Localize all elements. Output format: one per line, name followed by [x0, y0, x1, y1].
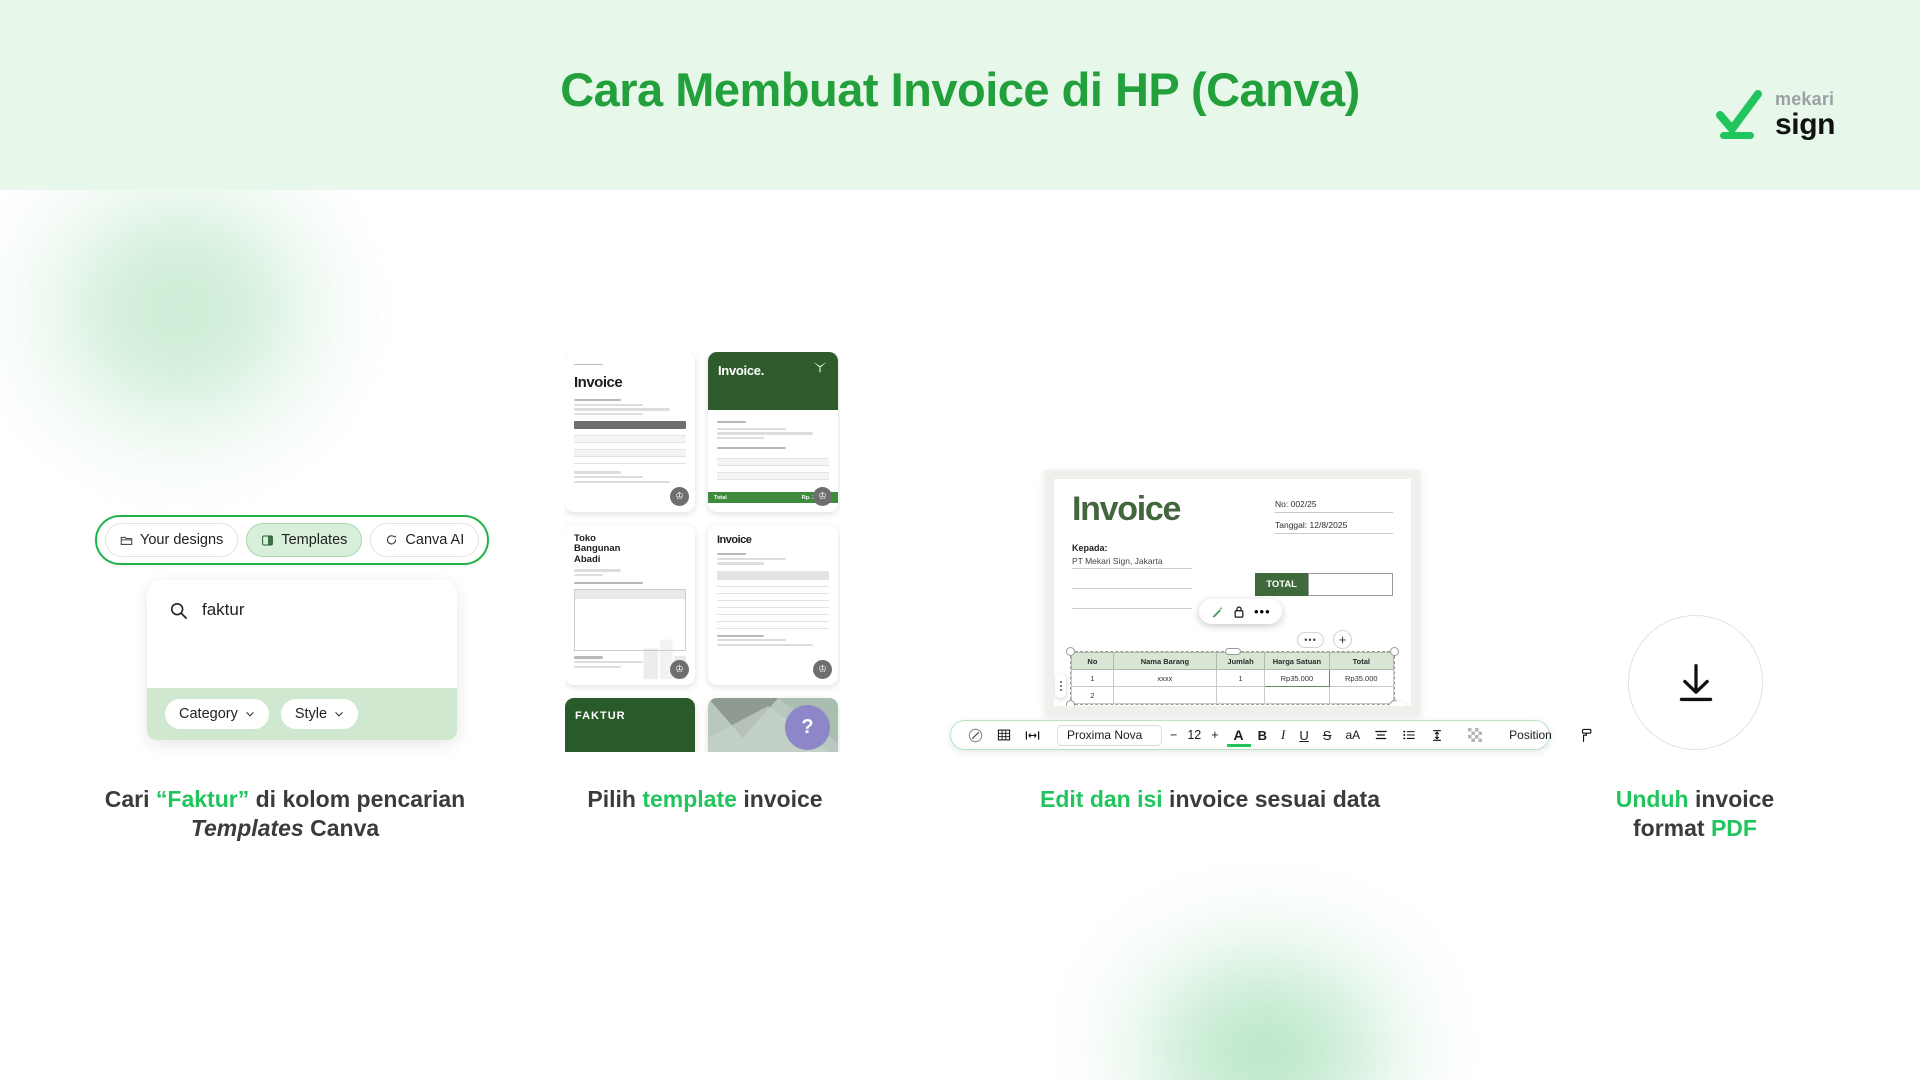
search-input[interactable]: faktur [147, 580, 457, 620]
template-card[interactable]: Invoice ♔ [565, 352, 695, 512]
layout-icon [261, 534, 274, 547]
search-panel: faktur Category Style [147, 580, 457, 740]
search-icon [169, 601, 188, 620]
recipient-value[interactable]: PT Mekari Sign, Jakarta [1072, 556, 1192, 569]
table-row[interactable]: 2 [1072, 687, 1394, 704]
resize-handle-top[interactable] [1225, 648, 1241, 655]
bird-logo-icon [811, 360, 829, 374]
tab-templates-label: Templates [281, 532, 347, 548]
green-check-icon [1715, 88, 1763, 142]
cell-no[interactable]: 1 [1072, 670, 1114, 687]
caption-1-pre: Cari [105, 786, 156, 812]
text-color-button[interactable]: A [1227, 720, 1251, 750]
tab-your-designs-label: Your designs [140, 532, 223, 548]
invoice-document[interactable]: Invoice No: 002/25 Tanggal: 12/8/2025 Ke… [1054, 479, 1411, 706]
filter-category[interactable]: Category [165, 699, 269, 729]
folder-icon [120, 534, 133, 547]
logo-sign-text: sign [1775, 110, 1835, 140]
th-total: Total [1329, 653, 1393, 670]
align-icon[interactable] [1367, 720, 1395, 750]
caption-2-post: invoice [737, 786, 823, 812]
template-grid: Invoice ♔ Invoice. [565, 352, 840, 752]
table-row[interactable]: 1 xxxx 1 Rp35.000 Rp35.000 [1072, 670, 1394, 687]
caption-1-mid: di kolom pencarian [249, 786, 465, 812]
download-icon [1667, 654, 1725, 712]
template-card[interactable]: FAKTUR [565, 698, 695, 752]
caption-1-highlight: “Faktur” [156, 786, 249, 812]
cell-nama[interactable]: xxxx [1113, 670, 1216, 687]
cell-jumlah[interactable]: 1 [1216, 670, 1264, 687]
step-search-templates: Your designs Templates Canva AI [95, 500, 475, 750]
cell-total[interactable]: Rp35.000 [1329, 670, 1393, 687]
canva-canvas-frame: Invoice No: 002/25 Tanggal: 12/8/2025 Ke… [1045, 470, 1420, 715]
row-options-icon[interactable] [1055, 674, 1066, 698]
caption-step-3: Edit dan isi invoice sesuai data [1000, 785, 1420, 814]
premium-crown-icon: ♔ [670, 660, 689, 679]
invoice-total-box: TOTAL [1255, 573, 1393, 596]
cell-jumlah[interactable] [1216, 687, 1264, 704]
premium-crown-icon: ♔ [670, 487, 689, 506]
mekari-sign-logo: mekari sign [1715, 88, 1835, 142]
template-total-label: Total [714, 495, 727, 501]
table-header-row: No Nama Barang Jumlah Harga Satuan Total [1072, 653, 1394, 670]
caption-3-post: invoice sesuai data [1163, 786, 1380, 812]
step-download-pdf [1628, 615, 1763, 750]
invoice-table[interactable]: ↻ No Nama Barang Jumlah Harga Satuan Tot… [1070, 651, 1395, 705]
line-spacing-icon[interactable] [1423, 720, 1451, 750]
filter-style[interactable]: Style [281, 699, 358, 729]
chevron-down-icon [334, 709, 344, 719]
template-card[interactable]: Invoice. Total Rp. 340.000 [708, 352, 838, 512]
tab-your-designs[interactable]: Your designs [105, 523, 238, 557]
caption-4-mid2: format [1633, 815, 1711, 841]
tab-canva-ai[interactable]: Canva AI [370, 523, 479, 557]
filter-band: Category Style [147, 688, 457, 740]
search-input-value: faktur [202, 600, 245, 620]
logo-mekari-text: mekari [1775, 90, 1835, 108]
th-jumlah: Jumlah [1216, 653, 1264, 670]
font-size-decrease[interactable]: − [1170, 728, 1177, 742]
template-title: Invoice [717, 534, 829, 546]
recipient-label: Kepada: [1072, 543, 1393, 553]
page-header: Cara Membuat Invoice di HP (Canva) mekar… [0, 0, 1920, 190]
invoice-table-grid: No Nama Barang Jumlah Harga Satuan Total… [1071, 652, 1394, 704]
premium-crown-icon: ♔ [813, 487, 832, 506]
th-no: No [1072, 653, 1114, 670]
cell-harga-satuan[interactable] [1265, 687, 1329, 704]
canva-text-toolbar: Proxima Nova − 12 + A B I U S aA [950, 720, 1550, 750]
page-root: Cara Membuat Invoice di HP (Canva) mekar… [0, 0, 1920, 1080]
download-button[interactable] [1628, 615, 1763, 750]
transparency-icon[interactable] [1461, 720, 1489, 750]
letter-case-button[interactable]: aA [1338, 720, 1367, 750]
step-choose-template: Invoice ♔ Invoice. [565, 352, 840, 752]
th-harga-satuan: Harga Satuan [1265, 653, 1329, 670]
step-edit-invoice: Invoice No: 002/25 Tanggal: 12/8/2025 Ke… [1045, 470, 1425, 730]
invoice-meta: No: 002/25 Tanggal: 12/8/2025 [1275, 499, 1393, 541]
brush-icon[interactable] [961, 720, 990, 750]
caption-step-2: Pilih template invoice [490, 785, 920, 814]
caption-step-1: Cari “Faktur” di kolom pencarian Templat… [95, 785, 475, 843]
caption-1-italic: Templates [191, 815, 304, 841]
th-nama-barang: Nama Barang [1113, 653, 1216, 670]
table-grid-icon[interactable] [990, 720, 1018, 750]
premium-crown-icon: ♔ [813, 660, 832, 679]
template-title: Invoice [574, 374, 686, 391]
bold-button[interactable]: B [1251, 720, 1274, 750]
filter-style-label: Style [295, 706, 327, 722]
sparkle-icon [385, 534, 398, 547]
lock-icon [1233, 605, 1245, 619]
cell-harga-satuan-selected[interactable]: Rp35.000 [1265, 670, 1329, 687]
template-card[interactable]: Toko Bangunan Abadi ♔ [565, 525, 695, 685]
tab-templates[interactable]: Templates [246, 523, 362, 557]
resize-handle[interactable] [1390, 647, 1399, 656]
caption-2-pre: Pilih [587, 786, 642, 812]
template-card[interactable]: Invoice ♔ [708, 525, 838, 685]
underline-button[interactable]: U [1292, 720, 1315, 750]
help-button[interactable]: ? [785, 705, 830, 750]
total-value[interactable] [1308, 573, 1393, 596]
element-float-toolbar[interactable]: ••• [1199, 599, 1282, 624]
background-blob-left [60, 200, 300, 420]
background-blob-bottom [1150, 965, 1380, 1080]
font-size-stepper[interactable]: − 12 + [1162, 728, 1227, 742]
invoice-number: No: 002/25 [1275, 499, 1393, 513]
plus-icon[interactable]: + [1333, 630, 1352, 649]
filter-category-label: Category [179, 706, 238, 722]
position-button[interactable]: Position [1499, 728, 1562, 742]
font-family-dropdown[interactable]: Proxima Nova [1057, 725, 1162, 746]
cell-nama[interactable] [1113, 687, 1216, 704]
total-label: TOTAL [1255, 573, 1308, 596]
table-mini-toolbar[interactable]: ••• + [1297, 630, 1352, 649]
template-title: FAKTUR [575, 710, 685, 722]
caption-4-highlight: Unduh [1616, 786, 1689, 812]
cell-no[interactable]: 2 [1072, 687, 1114, 704]
caption-4-mid: invoice [1689, 786, 1775, 812]
font-size-value[interactable]: 12 [1187, 728, 1201, 742]
tab-canva-ai-label: Canva AI [405, 532, 464, 548]
strikethrough-button[interactable]: S [1316, 720, 1339, 750]
list-icon[interactable] [1395, 720, 1423, 750]
cell-total[interactable] [1329, 687, 1393, 704]
caption-4-highlight-2: PDF [1711, 815, 1757, 841]
page-title: Cara Membuat Invoice di HP (Canva) [0, 62, 1920, 117]
font-size-increase[interactable]: + [1211, 728, 1218, 742]
caption-step-4: Unduh invoice format PDF [1560, 785, 1830, 843]
canva-tabbar: Your designs Templates Canva AI [95, 515, 489, 565]
template-title: Toko Bangunan Abadi [574, 534, 641, 565]
chevron-down-icon [245, 709, 255, 719]
caption-1-post: Canva [304, 815, 379, 841]
caption-3-highlight: Edit dan isi [1040, 786, 1163, 812]
italic-button[interactable]: I [1274, 720, 1292, 750]
resize-handle[interactable] [1066, 647, 1075, 656]
width-icon[interactable] [1018, 720, 1047, 750]
invoice-date: Tanggal: 12/8/2025 [1275, 520, 1393, 534]
paint-roller-icon[interactable] [1572, 720, 1600, 750]
more-dots-icon[interactable]: ••• [1297, 632, 1324, 648]
magic-wand-icon [1210, 605, 1224, 619]
resize-handle[interactable] [1066, 700, 1075, 706]
caption-2-highlight: template [642, 786, 737, 812]
